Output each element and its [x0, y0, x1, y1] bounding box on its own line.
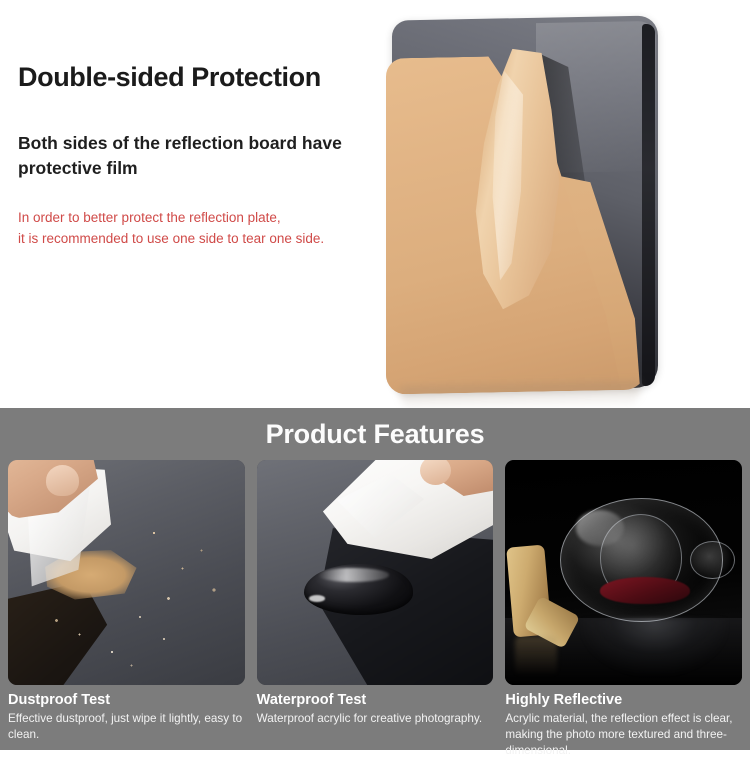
cork-reflection	[515, 636, 558, 677]
glass-reflection	[581, 618, 728, 677]
board-reflection	[400, 382, 640, 408]
feature-image-waterproof	[257, 460, 494, 685]
feature-title-dustproof: Dustproof Test	[8, 692, 245, 709]
feature-card-list: Dustproof Test Effective dustproof, just…	[8, 460, 742, 759]
feature-body-reflective: Acrylic material, the reflection effect …	[505, 711, 742, 758]
hero-note-line-1: In order to better protect the reflectio…	[18, 208, 398, 229]
wine-glass-shine	[576, 510, 623, 546]
wine-glass-stem	[690, 541, 735, 579]
feature-body-dustproof: Effective dustproof, just wipe it lightl…	[8, 711, 245, 743]
red-wine	[600, 577, 690, 604]
hero-note-line-2: it is recommended to use one side to tea…	[18, 229, 398, 250]
board-side-edge	[642, 24, 655, 386]
feature-card-dustproof: Dustproof Test Effective dustproof, just…	[8, 460, 245, 759]
product-marketing-image: Double-sided Protection Both sides of th…	[0, 0, 750, 750]
droplet-gloss	[318, 568, 389, 582]
droplet-specular	[309, 595, 326, 602]
feature-card-reflective: Highly Reflective Acrylic material, the …	[505, 460, 742, 759]
hero-subheading: Both sides of the reflection board have …	[18, 131, 386, 182]
feature-title-waterproof: Waterproof Test	[257, 692, 494, 709]
hero-section: Double-sided Protection Both sides of th…	[0, 0, 750, 408]
feature-title-reflective: Highly Reflective	[505, 692, 742, 709]
page-title: Double-sided Protection	[18, 62, 398, 93]
thumb-nail	[420, 460, 451, 485]
hero-copy-block: Double-sided Protection Both sides of th…	[18, 62, 398, 250]
thumb-nail	[46, 465, 79, 497]
product-photo-acrylic-board	[386, 18, 661, 393]
feature-image-reflective	[505, 460, 742, 685]
hero-note: In order to better protect the reflectio…	[18, 208, 398, 250]
feature-image-dustproof	[8, 460, 245, 685]
product-features-section: Product Features Dustproof Test Effectiv…	[0, 408, 750, 750]
feature-card-waterproof: Waterproof Test Waterproof acrylic for c…	[257, 460, 494, 759]
features-title: Product Features	[0, 419, 750, 450]
feature-body-waterproof: Waterproof acrylic for creative photogra…	[257, 711, 494, 727]
